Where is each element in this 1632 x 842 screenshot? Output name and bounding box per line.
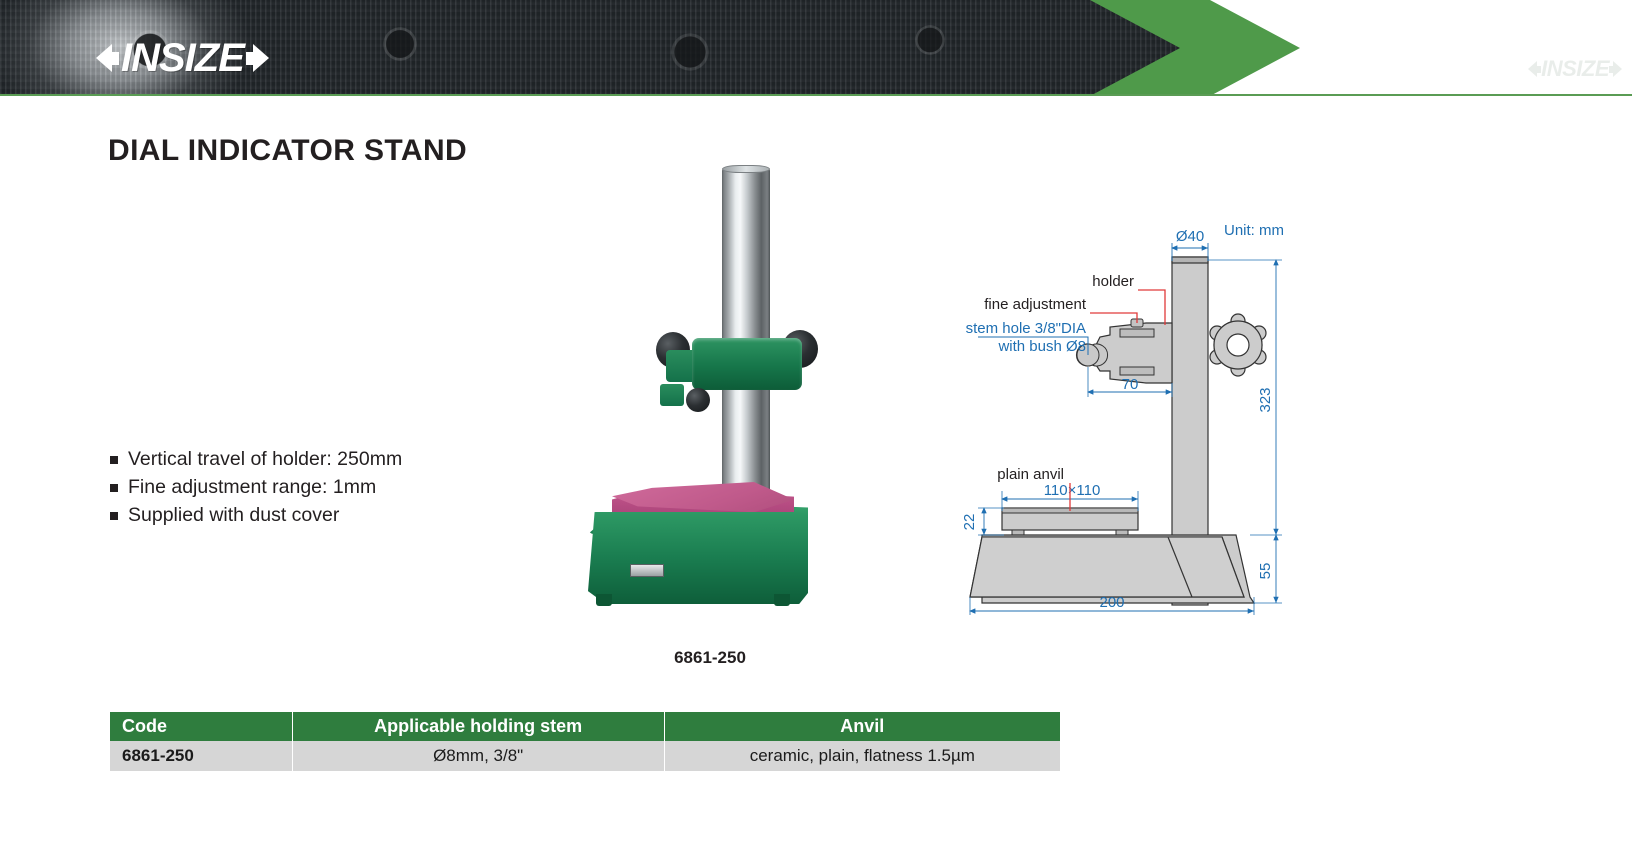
table-header-row: Code Applicable holding stem Anvil bbox=[110, 712, 1060, 741]
feature-text: Fine adjustment range: 1mm bbox=[128, 476, 376, 499]
dimension-dia40: Ø40 bbox=[1176, 228, 1204, 245]
unit-note: Unit: mm bbox=[1224, 222, 1284, 239]
watermark-text: INSIZE bbox=[1541, 58, 1609, 80]
cell-code: 6861-250 bbox=[110, 741, 292, 771]
dimension-110x110: 110×110 bbox=[1044, 482, 1101, 499]
product-base-foot-left bbox=[596, 594, 612, 606]
feature-list: Vertical travel of holder: 250mm Fine ad… bbox=[110, 448, 530, 532]
table-row: 6861-250 Ø8mm, 3/8" ceramic, plain, flat… bbox=[110, 741, 1060, 771]
callout-plain-anvil: plain anvil bbox=[997, 466, 1064, 483]
specification-table: Code Applicable holding stem Anvil 6861-… bbox=[110, 712, 1060, 771]
page-header: INSIZE INSIZE bbox=[0, 0, 1632, 96]
logo-left-arrow-tail-icon bbox=[109, 52, 119, 65]
product-knob-bottom bbox=[686, 388, 710, 412]
list-item: Vertical travel of holder: 250mm bbox=[110, 448, 530, 471]
feature-text: Vertical travel of holder: 250mm bbox=[128, 448, 402, 471]
insize-watermark-logo: INSIZE bbox=[1528, 58, 1622, 80]
product-base-body bbox=[588, 512, 808, 604]
callout-fine-adjustment: fine adjustment bbox=[984, 296, 1087, 313]
product-column-top-cap bbox=[722, 165, 770, 173]
cell-anvil: ceramic, plain, flatness 1.5µm bbox=[664, 741, 1060, 771]
product-caption: 6861-250 bbox=[560, 648, 860, 668]
dimension-55: 55 bbox=[1257, 563, 1274, 580]
logo-right-arrow-icon bbox=[253, 44, 269, 72]
dimension-22: 22 bbox=[961, 514, 978, 531]
list-item: Supplied with dust cover bbox=[110, 504, 530, 527]
list-item: Fine adjustment range: 1mm bbox=[110, 476, 530, 499]
dimension-323: 323 bbox=[1257, 387, 1274, 412]
page-title: DIAL INDICATOR STAND bbox=[108, 134, 467, 168]
dimension-200: 200 bbox=[1099, 594, 1124, 611]
product-base-foot-right bbox=[774, 594, 790, 606]
product-holder-arm-lower bbox=[660, 384, 684, 406]
column-header-code: Code bbox=[110, 712, 292, 741]
square-bullet-icon bbox=[110, 484, 118, 492]
technical-drawing: Ø40 Unit: mm 323 55 70 110×110 22 200 bbox=[960, 215, 1320, 625]
header-green-rule bbox=[0, 94, 1632, 96]
square-bullet-icon bbox=[110, 512, 118, 520]
product-holder-block bbox=[692, 338, 802, 390]
column-header-stem: Applicable holding stem bbox=[292, 712, 664, 741]
insize-logo[interactable]: INSIZE bbox=[96, 36, 269, 80]
callout-stem-hole-line1: stem hole 3/8"DIA bbox=[966, 320, 1086, 337]
column-header-anvil: Anvil bbox=[664, 712, 1060, 741]
callout-stem-hole-line2: with bush Ø8 bbox=[997, 338, 1086, 355]
product-base-badge bbox=[630, 564, 664, 577]
product-photo bbox=[560, 160, 860, 630]
square-bullet-icon bbox=[110, 456, 118, 464]
watermark-right-arrow-icon bbox=[1613, 61, 1622, 77]
callout-holder: holder bbox=[1092, 273, 1134, 290]
product-column bbox=[722, 168, 770, 490]
feature-text: Supplied with dust cover bbox=[128, 504, 339, 527]
dimension-70: 70 bbox=[1122, 376, 1139, 393]
cell-stem: Ø8mm, 3/8" bbox=[292, 741, 664, 771]
logo-text: INSIZE bbox=[121, 38, 244, 78]
